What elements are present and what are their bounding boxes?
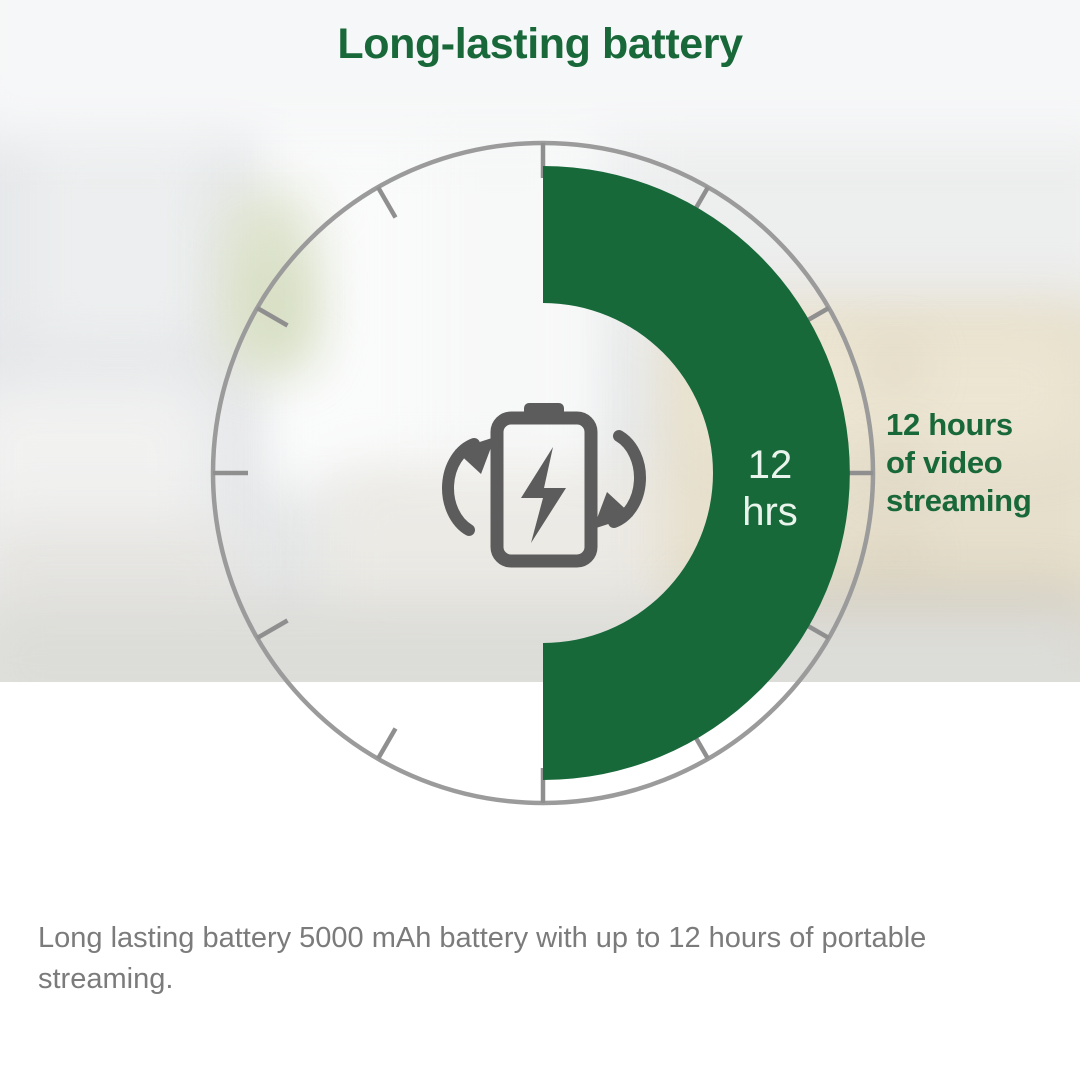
callout-line-3: streaming [886,482,1066,520]
callout-12-hours-video-streaming: 12 hours of video streaming [886,406,1066,519]
background-blur-plant-leaves [245,250,305,360]
gauge-tick [378,729,396,759]
background-blur-drawer-knob [878,352,912,380]
feature-description-caption: Long lasting battery 5000 mAh battery wi… [38,918,1023,1000]
gauge-tick [691,729,709,759]
page-title: Long-lasting battery [0,20,1080,69]
callout-line-2: of video [886,444,1066,482]
background-blur-wardrobe-panel-top [30,120,210,350]
background-blur-drawer-knob [878,545,912,573]
blurred-room-photo-background [0,0,1080,682]
background-blur-floor [0,600,1080,682]
callout-line-1: 12 hours [886,406,1066,444]
